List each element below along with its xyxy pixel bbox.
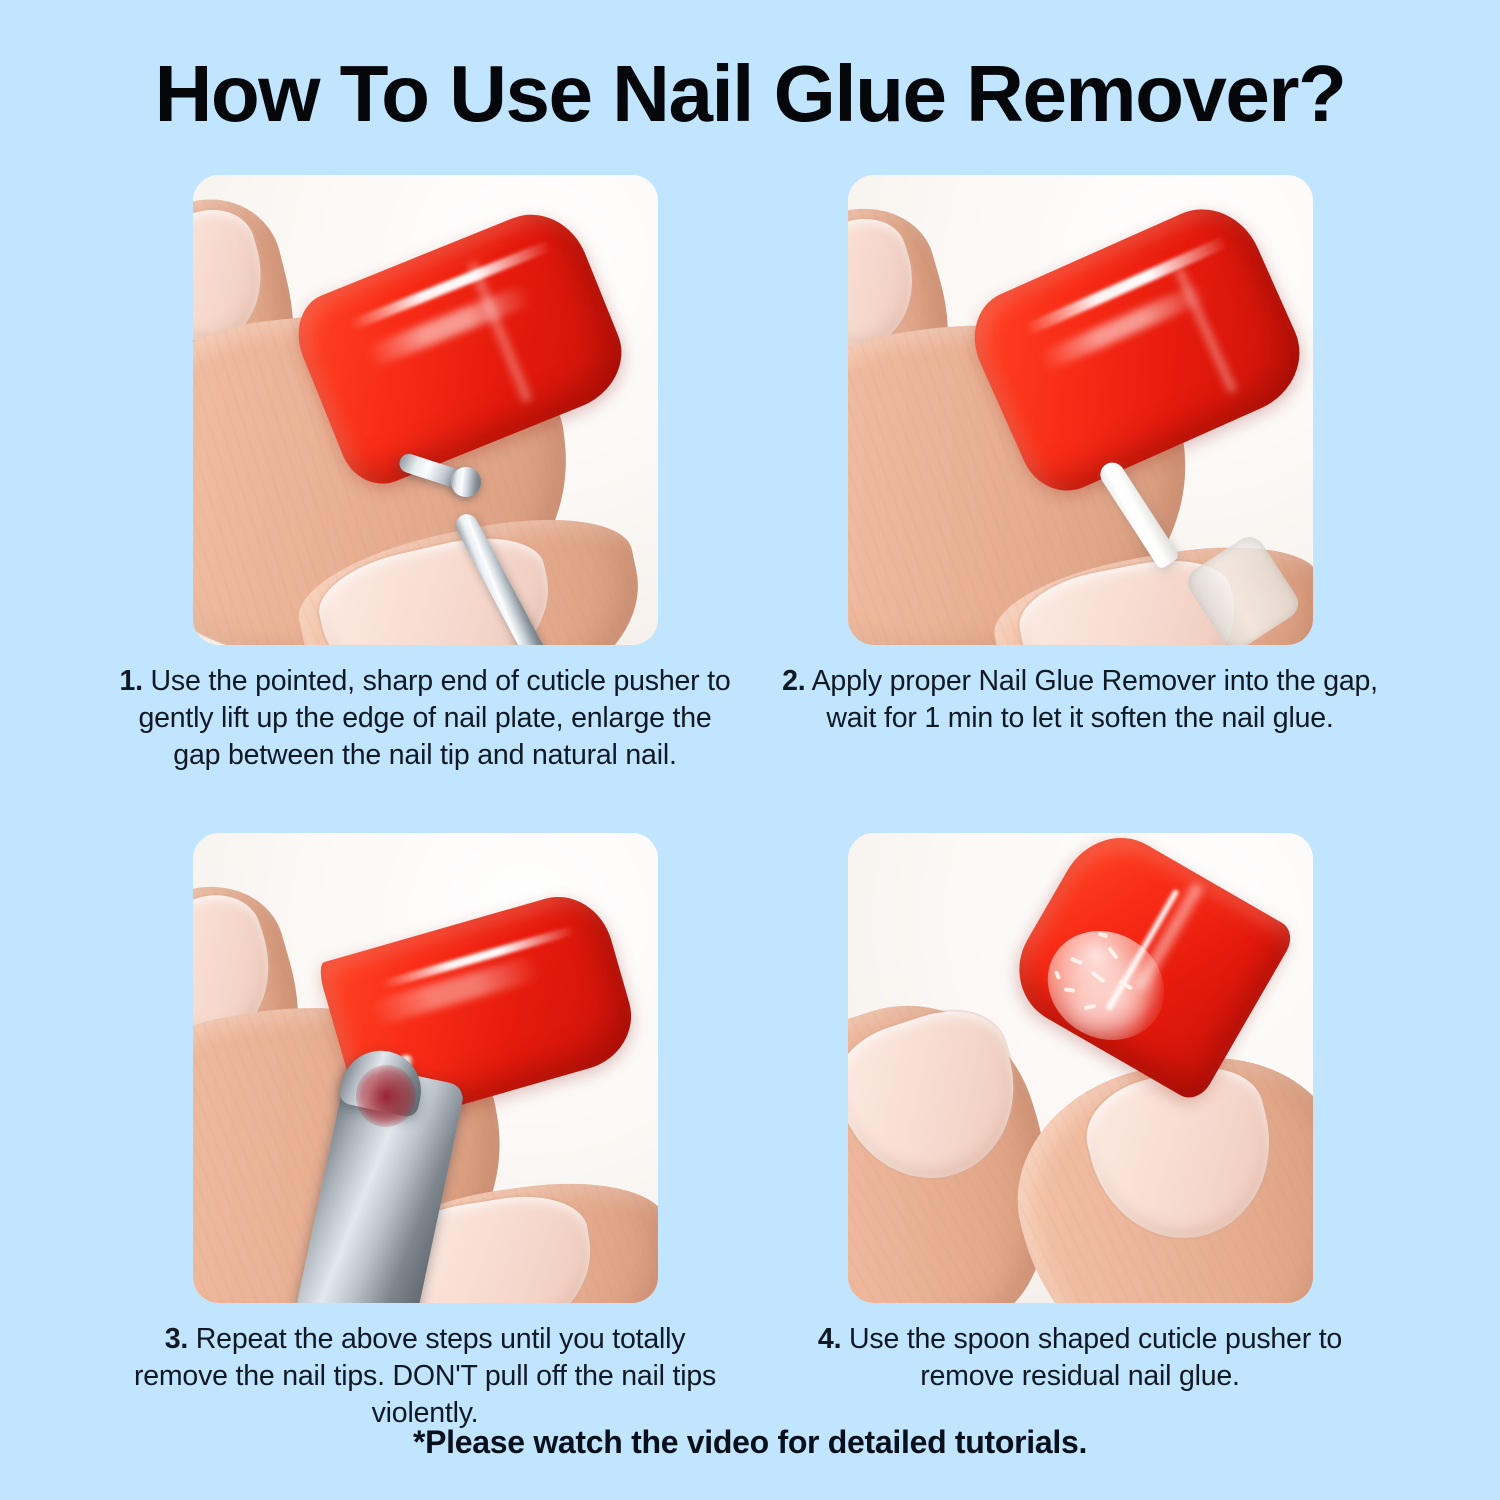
page-title: How To Use Nail Glue Remover? <box>0 52 1500 136</box>
step-3-number: 3. <box>165 1323 188 1355</box>
photo-removed-tip-and-bare-nails <box>848 833 1313 1303</box>
step-2-caption: 2. Apply proper Nail Glue Remover into t… <box>770 663 1390 737</box>
step-1-number: 1. <box>119 665 142 697</box>
photo-apply-remover <box>848 175 1313 645</box>
step-1: 1. Use the pointed, sharp end of cuticle… <box>95 175 755 774</box>
step-3-text: Repeat the above steps until you totally… <box>134 1323 716 1429</box>
step-2: 2. Apply proper Nail Glue Remover into t… <box>750 175 1410 737</box>
step-2-photo <box>848 175 1313 645</box>
photo-cuticle-pusher-lift <box>193 175 658 645</box>
step-4: 4. Use the spoon shaped cuticle pusher t… <box>750 833 1410 1395</box>
cuticle-pusher-elbow <box>451 467 481 497</box>
infographic-page: How To Use Nail Glue Remover? <box>0 0 1500 1500</box>
step-4-caption: 4. Use the spoon shaped cuticle pusher t… <box>770 1321 1390 1395</box>
step-4-photo <box>848 833 1313 1303</box>
step-2-number: 2. <box>782 665 805 697</box>
steps-grid: 1. Use the pointed, sharp end of cuticle… <box>0 175 1500 833</box>
footer-note: *Please watch the video for detailed tut… <box>0 1424 1500 1461</box>
step-3-caption: 3. Repeat the above steps until you tota… <box>115 1321 735 1432</box>
step-1-caption: 1. Use the pointed, sharp end of cuticle… <box>115 663 735 774</box>
step-3: 3. Repeat the above steps until you tota… <box>95 833 755 1432</box>
steps-row-1: 1. Use the pointed, sharp end of cuticle… <box>0 175 1500 833</box>
step-3-photo <box>193 833 658 1303</box>
step-1-photo <box>193 175 658 645</box>
step-4-text: Use the spoon shaped cuticle pusher to r… <box>849 1323 1342 1392</box>
step-1-text: Use the pointed, sharp end of cuticle pu… <box>138 665 730 771</box>
step-2-text: Apply proper Nail Glue Remover into the … <box>812 665 1378 734</box>
photo-prying-nail-tip <box>193 833 658 1303</box>
step-4-number: 4. <box>818 1323 841 1355</box>
